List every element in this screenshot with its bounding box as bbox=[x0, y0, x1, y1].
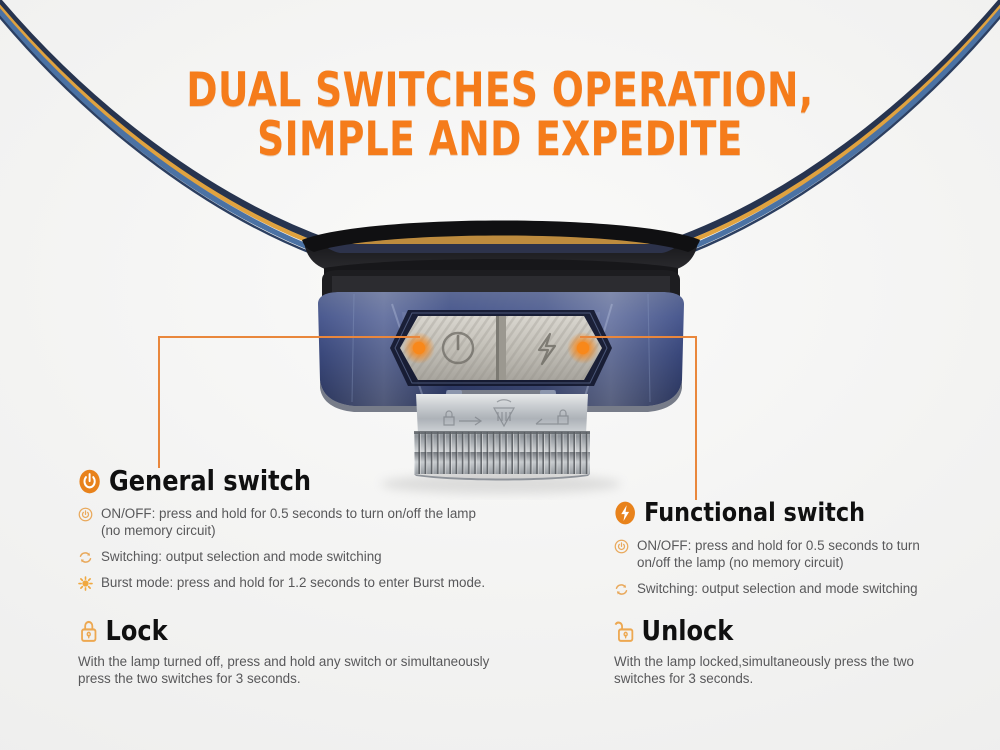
bullet-onoff: ON/OFF: press and hold for 0.5 seconds t… bbox=[78, 505, 578, 539]
bullet-burst: Burst mode: press and hold for 1.2 secon… bbox=[78, 574, 578, 591]
general-switch-heading-row: General switch bbox=[78, 466, 508, 496]
bullet-onoff-text: ON/OFF: press and hold for 0.5 seconds t… bbox=[637, 537, 920, 571]
lightning-bolt-circle-icon bbox=[614, 500, 636, 526]
padlock-open-icon bbox=[614, 619, 636, 644]
general-switch-callout-line bbox=[158, 336, 420, 468]
power-icon bbox=[614, 539, 629, 554]
functional-switch-section: Functional switch ON/OFF: press and hold… bbox=[614, 498, 984, 606]
bullet-switching: Switching: output selection and mode swi… bbox=[614, 580, 984, 597]
bullet-onoff-text: ON/OFF: press and hold for 0.5 seconds t… bbox=[101, 505, 476, 539]
lock-description: With the lamp turned off, press and hold… bbox=[78, 653, 578, 687]
bullet-switching-text: Switching: output selection and mode swi… bbox=[101, 548, 382, 565]
lock-section: Lock With the lamp turned off, press and… bbox=[78, 616, 578, 687]
infographic-canvas: DUAL SWITCHES OPERATION, SIMPLE AND EXPE… bbox=[0, 0, 1000, 750]
bullet-burst-text: Burst mode: press and hold for 1.2 secon… bbox=[101, 574, 485, 591]
lock-heading-row: Lock bbox=[78, 616, 508, 646]
lock-heading: Lock bbox=[106, 616, 168, 646]
padlock-closed-icon bbox=[78, 619, 100, 644]
power-circle-icon bbox=[78, 468, 101, 495]
switch-arrows-icon bbox=[78, 550, 93, 565]
power-icon bbox=[78, 507, 93, 522]
switch-arrows-icon bbox=[614, 582, 629, 597]
unlock-heading-row: Unlock bbox=[614, 616, 958, 646]
unlock-heading: Unlock bbox=[642, 616, 734, 646]
functional-switch-heading: Functional switch bbox=[644, 498, 865, 528]
unlock-section: Unlock With the lamp locked,simultaneous… bbox=[614, 616, 1000, 687]
functional-switch-bullets: ON/OFF: press and hold for 0.5 seconds t… bbox=[614, 537, 984, 597]
page-title: DUAL SWITCHES OPERATION, SIMPLE AND EXPE… bbox=[100, 66, 900, 164]
bullet-switching: Switching: output selection and mode swi… bbox=[78, 548, 578, 565]
general-switch-heading: General switch bbox=[109, 466, 311, 496]
burst-sun-icon bbox=[78, 576, 93, 591]
bullet-switching-text: Switching: output selection and mode swi… bbox=[637, 580, 918, 597]
bullet-onoff: ON/OFF: press and hold for 0.5 seconds t… bbox=[614, 537, 984, 571]
functional-switch-callout-line bbox=[580, 336, 697, 500]
functional-switch-heading-row: Functional switch bbox=[614, 498, 932, 528]
general-switch-section: General switch ON/OFF: press and hold fo… bbox=[78, 466, 578, 600]
unlock-description: With the lamp locked,simultaneously pres… bbox=[614, 653, 1000, 687]
general-switch-bullets: ON/OFF: press and hold for 0.5 seconds t… bbox=[78, 505, 578, 591]
